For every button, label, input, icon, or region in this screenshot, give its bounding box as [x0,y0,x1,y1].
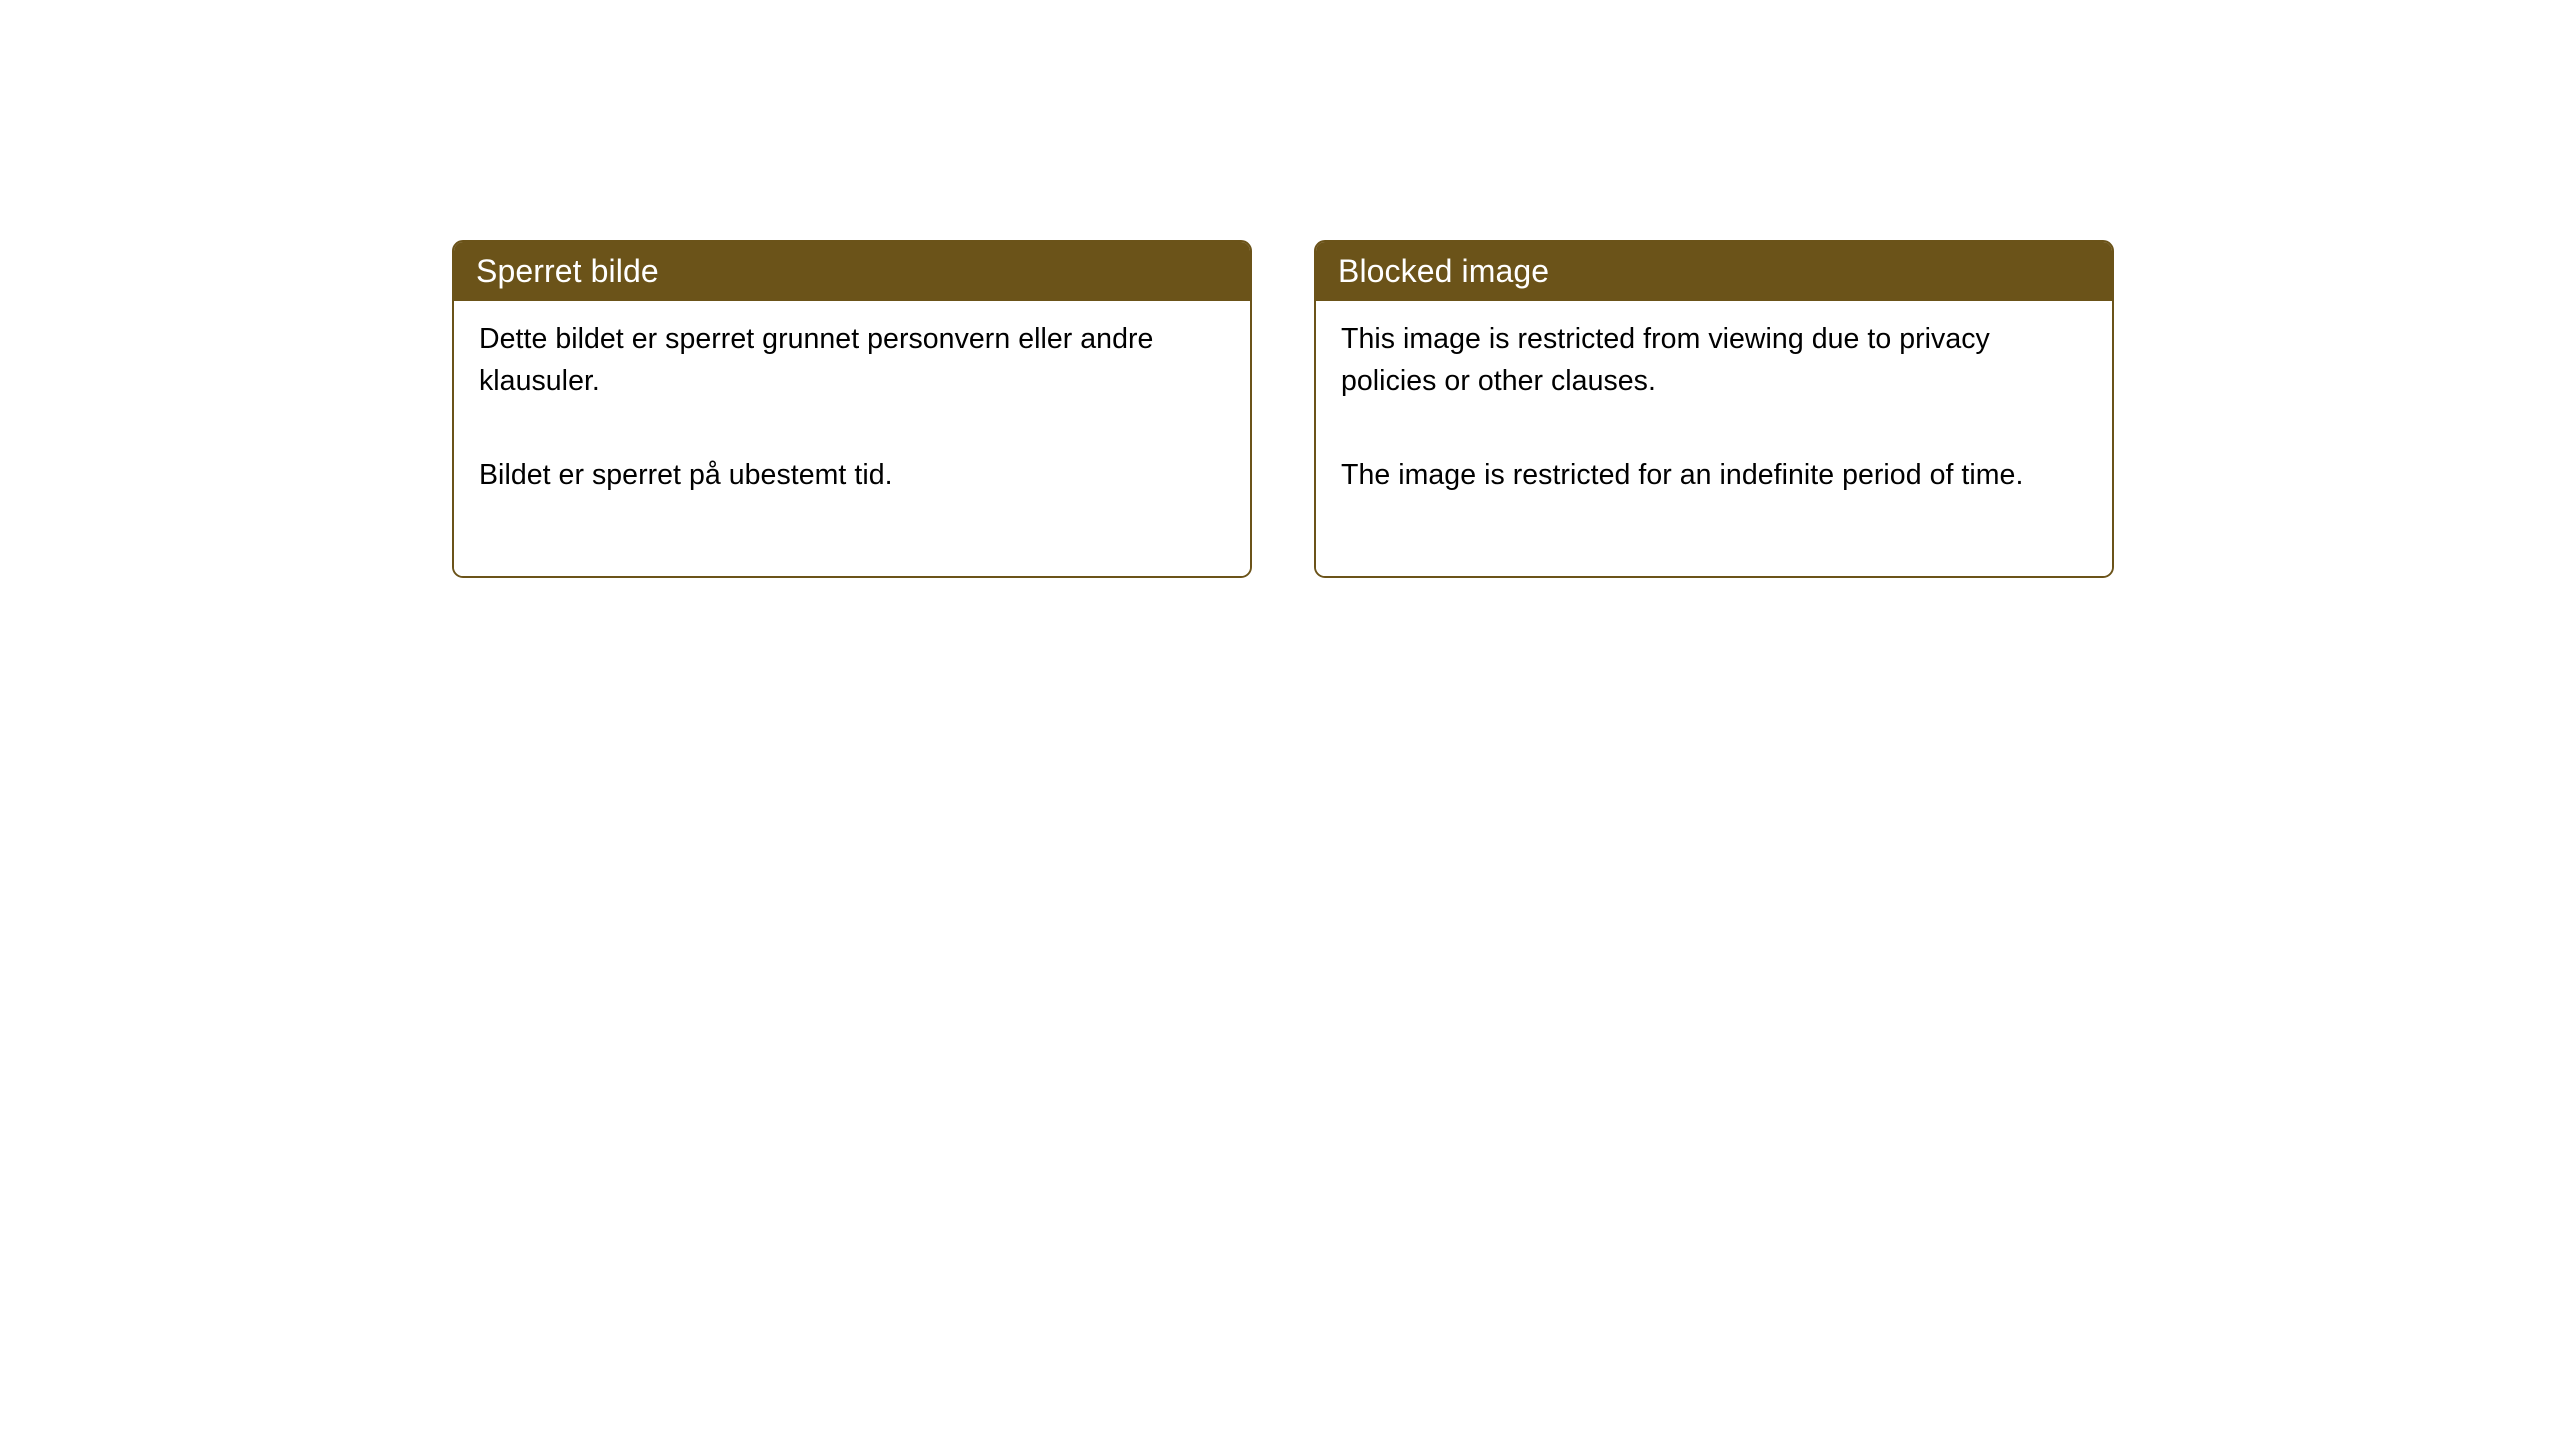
notice-paragraph-en-2: The image is restricted for an indefinit… [1341,454,2088,496]
blocked-image-notice-group: Sperret bilde Dette bildet er sperret gr… [452,240,2114,578]
notice-paragraph-no-2: Bildet er sperret på ubestemt tid. [479,454,1226,496]
notice-body-no: Dette bildet er sperret grunnet personve… [454,301,1250,576]
notice-header-no: Sperret bilde [452,240,1252,301]
notice-body-en: This image is restricted from viewing du… [1316,301,2112,576]
notice-paragraph-no-1: Dette bildet er sperret grunnet personve… [479,318,1226,402]
notice-paragraph-en-1: This image is restricted from viewing du… [1341,318,2088,402]
notice-title-en: Blocked image [1338,255,1549,287]
blocked-image-notice-en: Blocked image This image is restricted f… [1314,240,2114,578]
blocked-image-notice-no: Sperret bilde Dette bildet er sperret gr… [452,240,1252,578]
notice-title-no: Sperret bilde [476,255,659,287]
notice-header-en: Blocked image [1314,240,2114,301]
